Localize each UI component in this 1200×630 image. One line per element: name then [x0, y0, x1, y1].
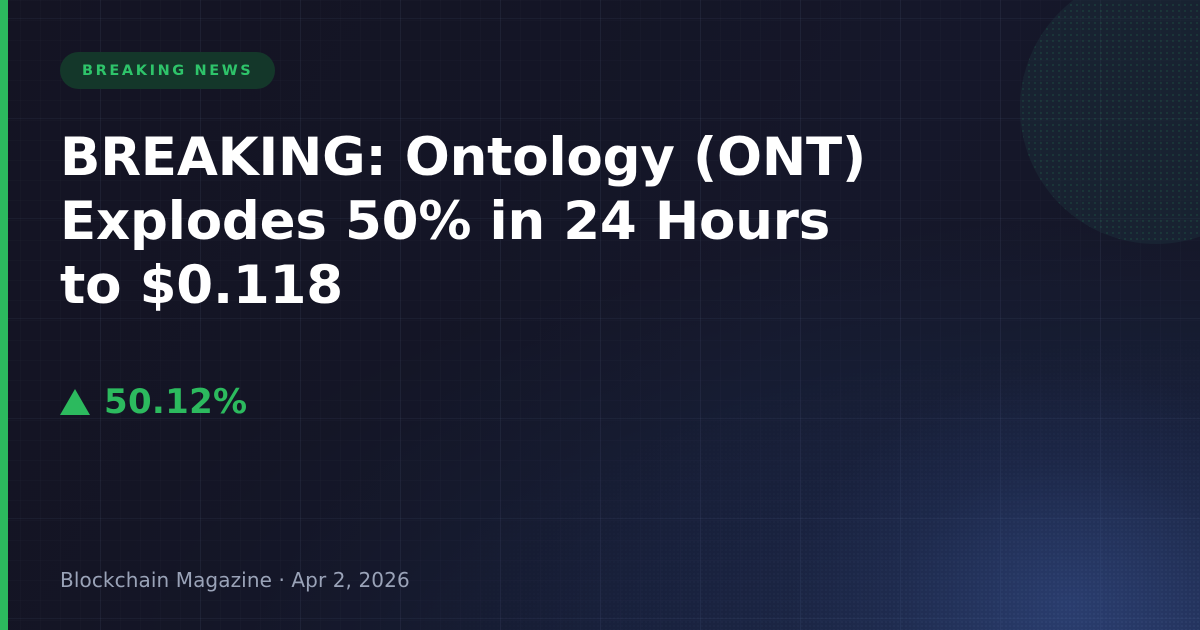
news-card: BREAKING NEWS BREAKING: Ontology (ONT) E…	[0, 0, 1200, 630]
triangle-up-icon	[60, 389, 90, 415]
price-change: 50.12%	[60, 382, 247, 422]
breaking-news-badge: BREAKING NEWS	[60, 52, 275, 89]
left-accent-bar	[0, 0, 8, 630]
breaking-news-badge-label: BREAKING NEWS	[82, 63, 253, 79]
price-change-value: 50.12%	[104, 382, 247, 422]
headline: BREAKING: Ontology (ONT) Explodes 50% in…	[60, 126, 890, 318]
card-content: BREAKING NEWS BREAKING: Ontology (ONT) E…	[60, 0, 1060, 630]
footer-attribution: Blockchain Magazine · Apr 2, 2026	[60, 568, 410, 592]
